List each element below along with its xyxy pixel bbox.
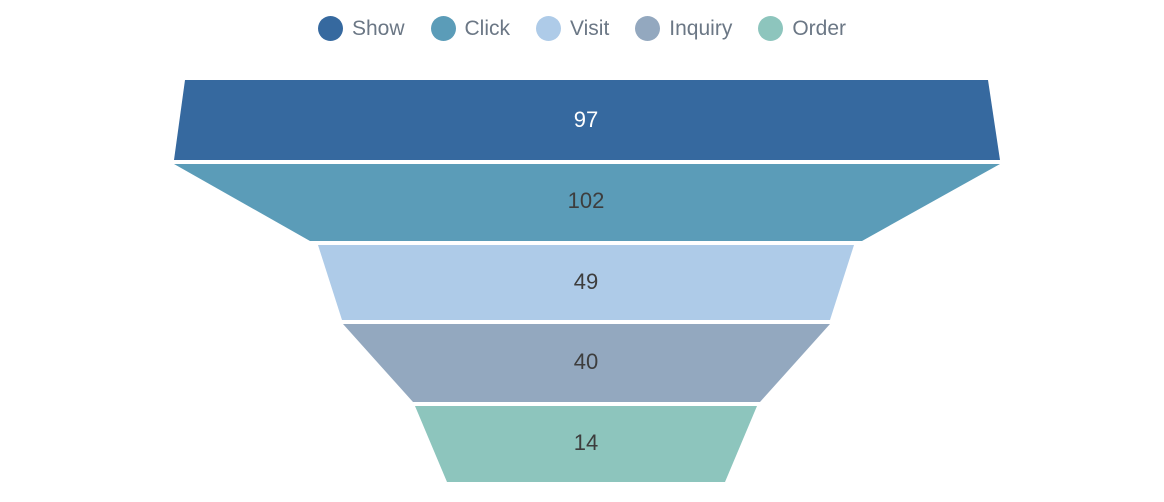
funnel-chart: Show Click Visit Inquiry Order 97 xyxy=(0,0,1164,502)
funnel-value-show: 97 xyxy=(574,107,598,132)
funnel-segment-order[interactable]: 14 xyxy=(415,406,757,482)
funnel-segment-visit[interactable]: 49 xyxy=(318,245,854,320)
funnel-value-click: 102 xyxy=(568,188,605,213)
funnel-value-order: 14 xyxy=(574,430,598,455)
funnel-value-visit: 49 xyxy=(574,269,598,294)
funnel-plot-area: 97 102 49 40 14 xyxy=(0,0,1164,502)
funnel-value-inquiry: 40 xyxy=(574,349,598,374)
funnel-segment-show[interactable]: 97 xyxy=(174,80,1000,160)
funnel-segment-inquiry[interactable]: 40 xyxy=(343,324,830,402)
funnel-segment-click[interactable]: 102 xyxy=(174,164,1000,241)
funnel-svg: 97 102 49 40 14 xyxy=(0,0,1164,502)
